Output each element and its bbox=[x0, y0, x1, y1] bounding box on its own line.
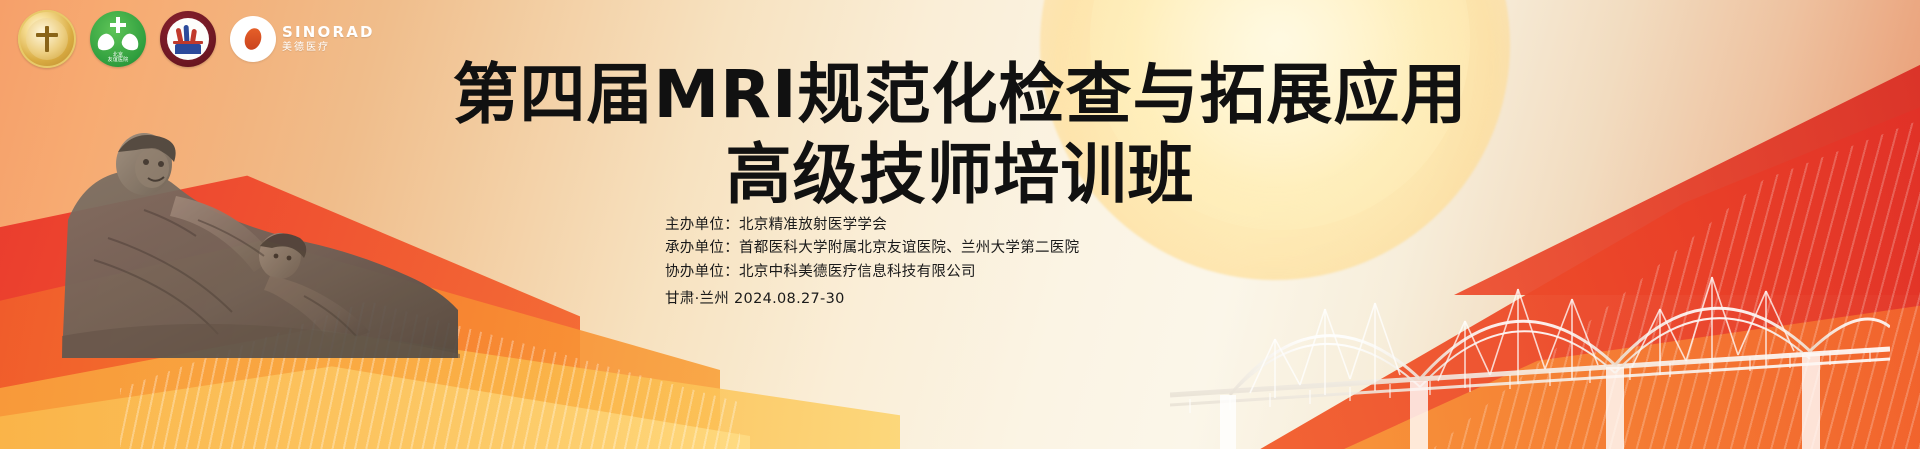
sinorad-logo-cn: 美德医疗 bbox=[282, 43, 375, 54]
gold-emblem-logo bbox=[18, 10, 76, 68]
event-place-date: 甘肃·兰州 2024.08.27-30 bbox=[665, 288, 1079, 311]
organizer-host: 主办单位：北京精准放射医学学会 bbox=[665, 214, 1079, 237]
zhongshan-bridge-illustration bbox=[1170, 199, 1890, 449]
gold-cross-icon bbox=[36, 26, 58, 52]
sinorad-logo: SINORAD 美德医疗 bbox=[230, 16, 375, 62]
sinorad-pupil-icon bbox=[242, 26, 264, 52]
lanzhou-university-second-hospital-logo bbox=[160, 11, 216, 67]
gate-building-icon bbox=[175, 44, 201, 54]
gold-emblem-inner bbox=[26, 18, 68, 60]
doves-icon bbox=[96, 34, 140, 54]
maroon-logo-inner bbox=[167, 18, 209, 60]
conference-banner: 北京 友谊医院 SINORAD 美德医疗 第四届MRI规范化检查与拓展应用 高级… bbox=[0, 0, 1920, 449]
sinorad-eye-icon bbox=[230, 16, 276, 62]
hospital-logo-line2: 友谊医院 bbox=[108, 58, 129, 64]
sponsor-logo-row: 北京 友谊医院 SINORAD 美德医疗 bbox=[18, 8, 375, 70]
beijing-friendship-hospital-logo: 北京 友谊医院 bbox=[90, 11, 146, 67]
organizer-coorganizer: 协办单位：北京中科美德医疗信息科技有限公司 bbox=[665, 261, 1079, 284]
dove-right-icon bbox=[120, 32, 141, 52]
medical-cross-icon bbox=[110, 17, 126, 33]
sinorad-logo-text: SINORAD 美德医疗 bbox=[282, 25, 375, 53]
swoosh-icon bbox=[176, 25, 200, 43]
dove-left-icon bbox=[95, 32, 116, 52]
yellow-river-mother-statue-illustration bbox=[48, 100, 478, 360]
sinorad-logo-en: SINORAD bbox=[282, 25, 375, 41]
organizer-info-block: 主办单位：北京精准放射医学学会 承办单位：首都医科大学附属北京友谊医院、兰州大学… bbox=[665, 214, 1079, 312]
organizer-undertaker: 承办单位：首都医科大学附属北京友谊医院、兰州大学第二医院 bbox=[665, 237, 1079, 260]
